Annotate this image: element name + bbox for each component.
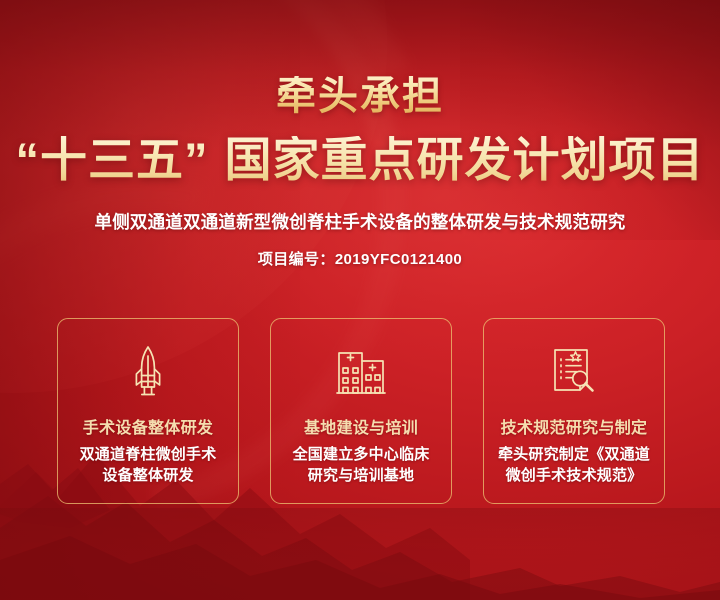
highlight-card-standard[interactable]: 技术规范研究与制定 牵头研究制定《双通道微创手术技术规范》 — [483, 318, 665, 504]
page-title: “十三五”国家重点研发计划项目 — [0, 136, 720, 183]
highlight-card-desc: 全国建立多中心临床研究与培训基地 — [287, 445, 436, 486]
background-bottom-band — [0, 508, 720, 600]
highlight-card-desc: 牵头研究制定《双通道微创手术技术规范》 — [492, 445, 656, 486]
poster-banner: 牵头承担 “十三五”国家重点研发计划项目 单侧双通道双通道新型微创脊柱手术设备的… — [0, 0, 720, 600]
highlight-card-rocket[interactable]: 手术设备整体研发 双通道脊柱微创手术设备整体研发 — [57, 318, 239, 504]
highlight-card-hospital[interactable]: 基地建设与培训 全国建立多中心临床研究与培训基地 — [270, 318, 452, 504]
highlight-card-title: 基地建设与培训 — [304, 414, 418, 438]
page-title-rest: 国家重点研发计划项目 — [225, 133, 705, 186]
highlight-card-desc: 双通道脊柱微创手术设备整体研发 — [74, 445, 223, 486]
project-number: 项目编号：2019YFC0121400 — [0, 248, 720, 269]
document-search-icon — [550, 346, 598, 396]
background-right-vignette — [460, 0, 720, 240]
hospital-building-icon — [336, 346, 386, 396]
headline-eyebrow: 牵头承担 — [0, 76, 720, 116]
project-subtitle: 单侧双通道双通道新型微创脊柱手术设备的整体研发与技术规范研究 — [0, 209, 720, 234]
highlight-card-list: 手术设备整体研发 双通道脊柱微创手术设备整体研发 — [57, 318, 665, 504]
rocket-icon — [128, 346, 168, 396]
highlight-card-title: 技术规范研究与制定 — [501, 414, 648, 438]
page-title-quoted: “十三五” — [16, 133, 209, 186]
highlight-card-title: 手术设备整体研发 — [83, 414, 213, 438]
